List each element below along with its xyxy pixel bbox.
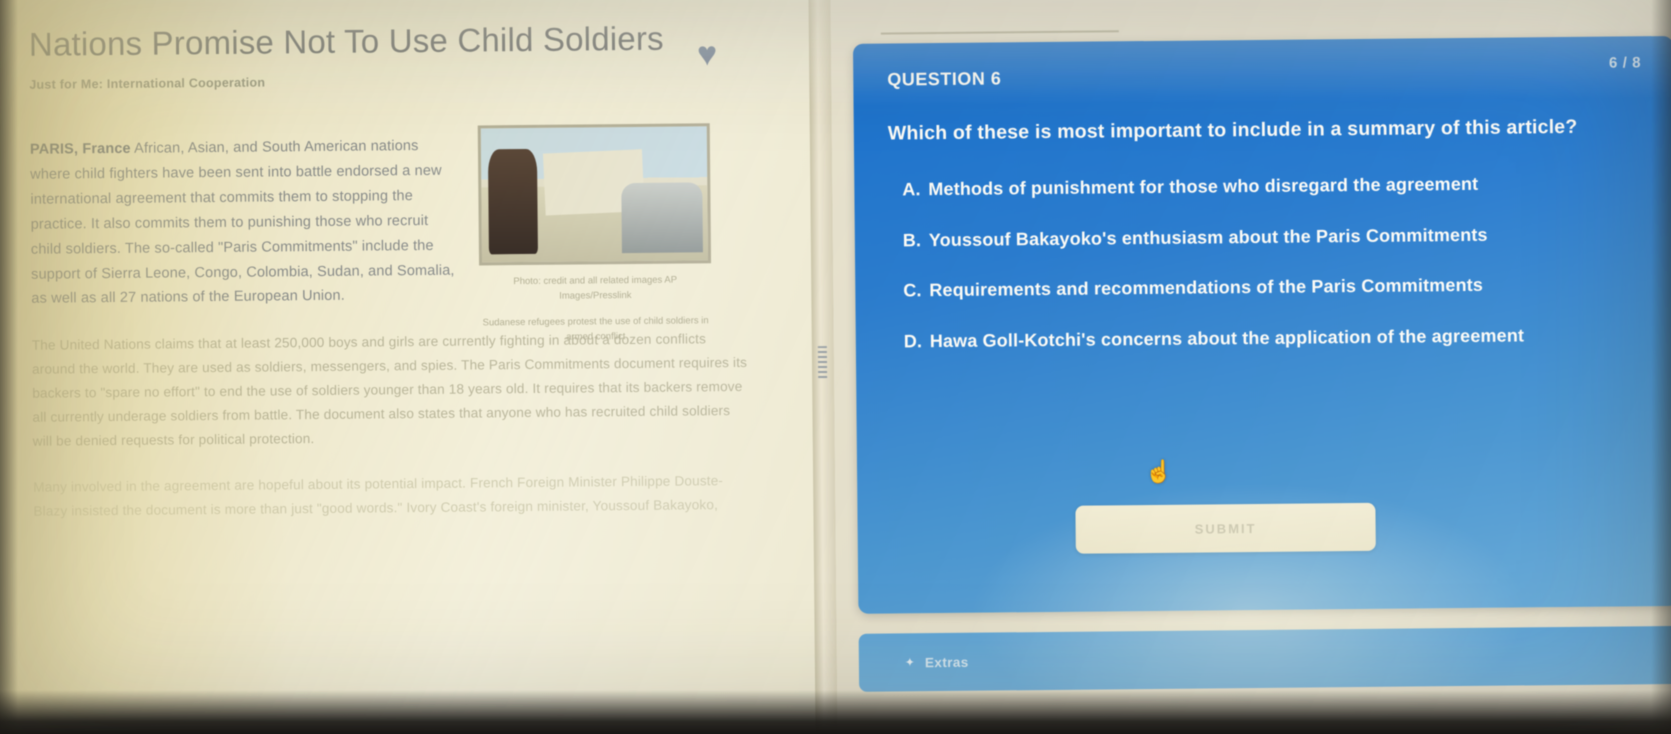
figure-caption-text: Photo: credit and all related images AP … (513, 274, 677, 302)
question-card: 6 / 8 QUESTION 6 Which of these is most … (853, 36, 1671, 614)
article-paragraph-1-text: African, Asian, and South American natio… (30, 138, 455, 307)
pointer-cursor-icon: ☝ (1145, 461, 1167, 487)
heart-icon[interactable]: ♥ (697, 37, 731, 68)
answer-option-a[interactable]: A. Methods of punishment for those who d… (888, 168, 1640, 204)
question-text: Which of these is most important to incl… (888, 111, 1628, 149)
screen-surface: Nations Promise Not To Use Child Soldier… (0, 0, 1671, 734)
answer-text-b: Youssouf Bakayoko's enthusiasm about the… (929, 219, 1619, 254)
answer-option-d[interactable]: D. Hawa Goll-Kotchi's concerns about the… (890, 320, 1642, 356)
article-header: Nations Promise Not To Use Child Soldier… (29, 14, 790, 91)
question-counter: 6 / 8 (1609, 54, 1641, 71)
extras-label: Extras (925, 654, 969, 669)
quiz-pane: TO-DO NOTES VOCABULARY 6 / 8 QUESTION 6 … (830, 0, 1671, 734)
article-photo (478, 123, 711, 265)
article-paragraph-3: Many involved in the agreement are hopef… (33, 469, 751, 524)
question-label: QUESTION 6 (887, 62, 1639, 90)
submit-button[interactable]: SUBMIT (1075, 503, 1375, 554)
article-pane: Nations Promise Not To Use Child Soldier… (0, 0, 820, 734)
figure-credit-text: Sudanese refugees protest the use of chi… (480, 313, 712, 346)
answer-text-c: Requirements and recommendations of the … (929, 270, 1619, 305)
answer-option-b[interactable]: B. Youssouf Bakayoko's enthusiasm about … (889, 219, 1641, 255)
article-dateline: PARIS, France (30, 141, 131, 158)
article-subtitle: Just for Me: International Cooperation (29, 70, 789, 91)
answer-letter-b: B. (903, 226, 929, 255)
article-paragraph-1: PARIS, France African, Asian, and South … (30, 133, 462, 312)
answer-letter-c: C. (903, 276, 929, 305)
quiz-tabs: TO-DO NOTES VOCABULARY (830, 0, 1671, 10)
article-figure: Photo: credit and all related images AP … (478, 123, 712, 346)
page-title: Nations Promise Not To Use Child Soldier… (29, 15, 689, 68)
answer-options: A. Methods of punishment for those who d… (888, 168, 1642, 355)
active-tab-underline (881, 30, 1119, 34)
figure-caption: Photo: credit and all related images AP … (479, 272, 712, 346)
article-paragraph-2: The United Nations claims that at least … (32, 327, 751, 453)
article-body: Photo: credit and all related images AP … (30, 131, 772, 524)
extras-bar[interactable]: ✦ Extras (859, 626, 1671, 692)
answer-option-c[interactable]: C. Requirements and recommendations of t… (889, 269, 1641, 305)
answer-text-d: Hawa Goll-Kotchi's concerns about the ap… (930, 320, 1620, 355)
answer-text-a: Methods of punishment for those who disr… (928, 169, 1618, 204)
photographed-screen: Nations Promise Not To Use Child Soldier… (0, 0, 1671, 734)
answer-letter-a: A. (902, 175, 928, 204)
star-icon: ✦ (905, 655, 915, 669)
answer-letter-d: D. (904, 327, 930, 356)
pane-resize-handle[interactable] (818, 346, 827, 378)
